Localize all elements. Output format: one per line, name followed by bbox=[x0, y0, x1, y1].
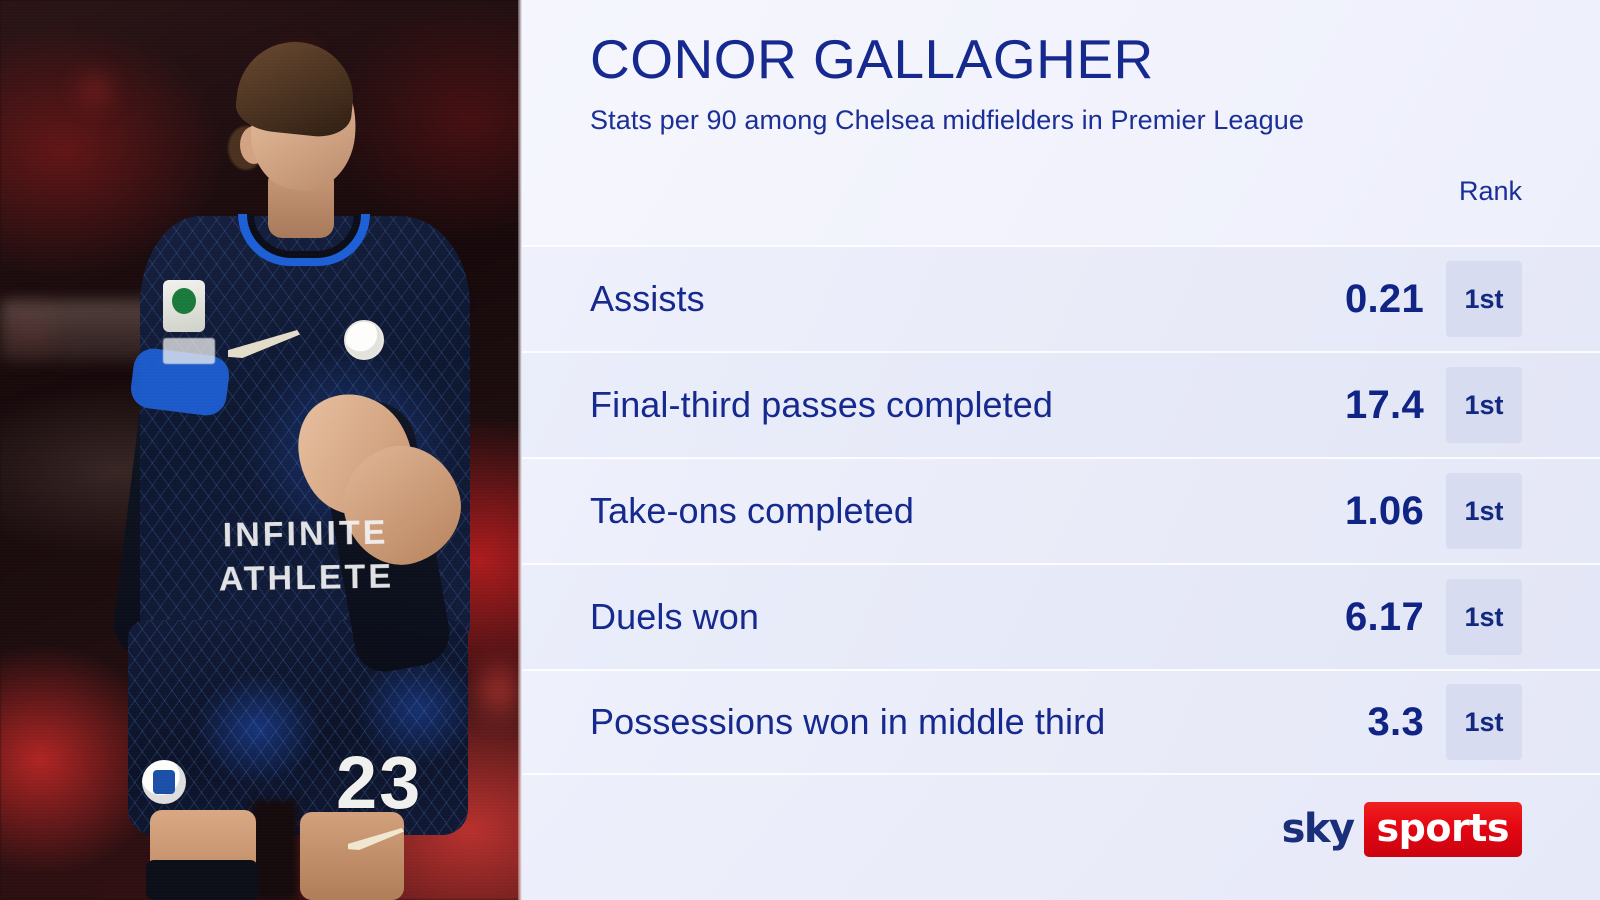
stat-label: Final-third passes completed bbox=[590, 384, 1304, 426]
player-sock bbox=[146, 860, 258, 900]
rank-badge: 1st bbox=[1446, 579, 1522, 655]
rank-badge: 1st bbox=[1446, 261, 1522, 337]
player-figure: INFINITE ATHLETE 23 bbox=[0, 0, 522, 900]
rank-badge: 1st bbox=[1446, 473, 1522, 549]
panel-header: CONOR GALLAGHER Stats per 90 among Chels… bbox=[522, 0, 1600, 245]
stat-value: 6.17 bbox=[1304, 595, 1424, 640]
shorts-shadow bbox=[252, 800, 298, 900]
player-photo: INFINITE ATHLETE 23 bbox=[0, 0, 522, 900]
kit-sponsor-text: INFINITE ATHLETE bbox=[185, 510, 426, 602]
table-row: Possessions won in middle third 3.3 1st bbox=[522, 669, 1600, 775]
kit-sponsor-line-2: ATHLETE bbox=[186, 554, 427, 602]
table-row: Final-third passes completed 17.4 1st bbox=[522, 351, 1600, 457]
sports-wordmark: sports bbox=[1364, 802, 1522, 857]
player-hair bbox=[234, 36, 359, 140]
rank-badge: 1st bbox=[1446, 684, 1522, 760]
page-subtitle: Stats per 90 among Chelsea midfielders i… bbox=[590, 105, 1600, 136]
kit-sponsor-line-1: INFINITE bbox=[185, 510, 426, 558]
stat-value: 17.4 bbox=[1304, 383, 1424, 428]
stat-label: Assists bbox=[590, 278, 1304, 320]
sleeve-sponsor-patch bbox=[163, 338, 215, 364]
page-title: CONOR GALLAGHER bbox=[590, 30, 1600, 89]
shirt-number: 23 bbox=[336, 740, 422, 825]
table-row: Duels won 6.17 1st bbox=[522, 563, 1600, 669]
stat-value: 1.06 bbox=[1304, 489, 1424, 534]
sky-wordmark: sky bbox=[1282, 809, 1364, 849]
stat-value: 3.3 bbox=[1304, 700, 1424, 745]
sky-sports-stats-graphic: INFINITE ATHLETE 23 CONOR GALLAGHER Stat… bbox=[0, 0, 1600, 900]
rank-column-header: Rank bbox=[1459, 176, 1522, 207]
panel-footer: sky sports bbox=[522, 775, 1600, 900]
rank-badge: 1st bbox=[1446, 367, 1522, 443]
stat-value: 0.21 bbox=[1304, 277, 1424, 322]
carabao-cup-sleeve-badge bbox=[163, 280, 205, 332]
chelsea-crest-shirt bbox=[344, 320, 384, 360]
stat-label: Duels won bbox=[590, 596, 1304, 638]
sky-sports-logo: sky sports bbox=[1282, 806, 1522, 852]
stats-table: Assists 0.21 1st Final-third passes comp… bbox=[522, 245, 1600, 775]
stat-label: Possessions won in middle third bbox=[590, 701, 1304, 743]
stat-label: Take-ons completed bbox=[590, 490, 1304, 532]
table-row: Take-ons completed 1.06 1st bbox=[522, 457, 1600, 563]
table-row: Assists 0.21 1st bbox=[522, 245, 1600, 351]
chelsea-crest-shorts bbox=[142, 760, 186, 804]
stats-panel: CONOR GALLAGHER Stats per 90 among Chels… bbox=[522, 0, 1600, 900]
player-right-leg bbox=[300, 812, 404, 900]
